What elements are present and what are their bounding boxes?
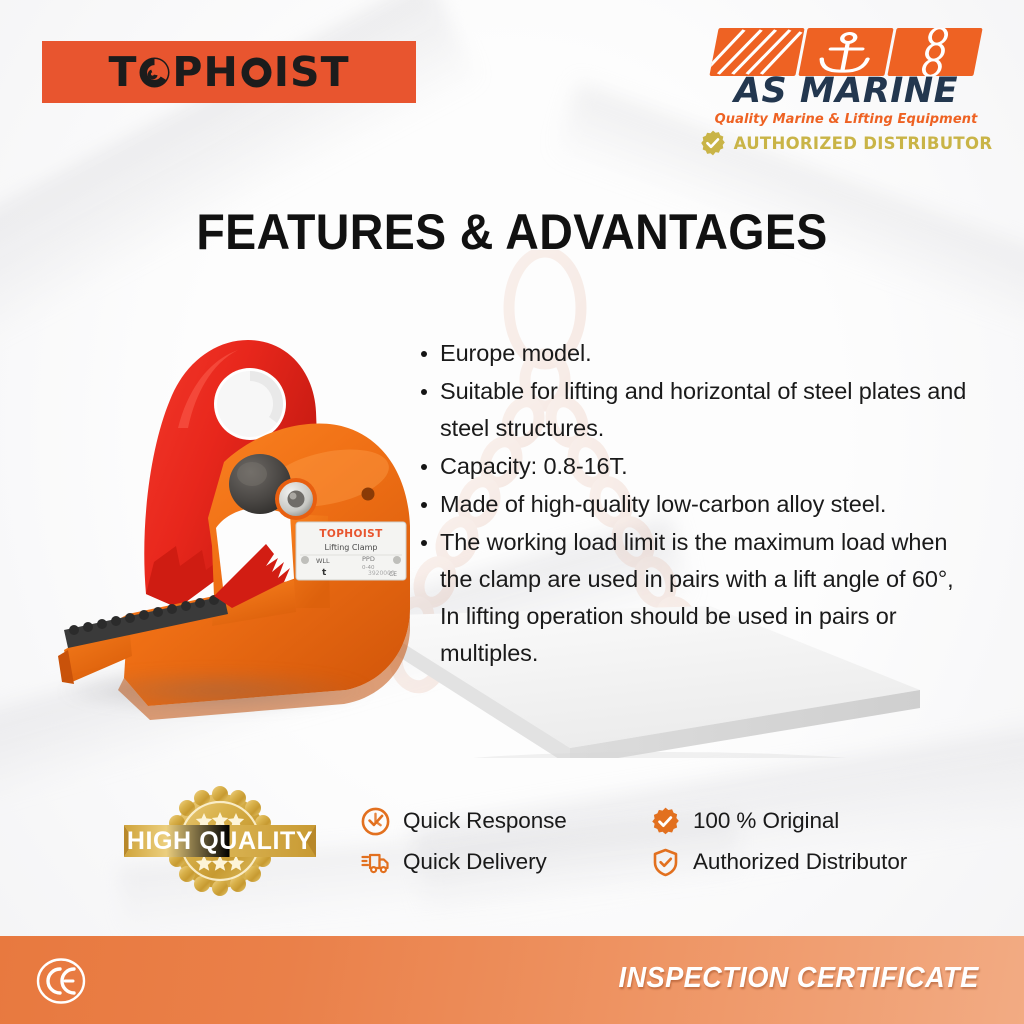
feature-bullet: The working load limit is the maximum lo… [440,524,978,672]
feature-badges-left: Quick Response Quick Delivery [360,806,567,877]
shield-check-icon [650,847,680,877]
feature-bullet: Europe model. [440,335,978,372]
infographic-page: TPHIST [0,0,1024,1024]
lifting-clamp-illustration: TOPHOIST Lifting Clamp WLL PPD 0-40 t 39… [28,278,428,728]
authorized-distributor-label: AUTHORIZED DISTRIBUTOR [734,134,993,153]
tophoist-text-part-1: T [108,52,137,93]
inspection-certificate-title: INSPECTION CERTIFICATE [618,962,978,995]
product-image-lifting-clamp: TOPHOIST Lifting Clamp WLL PPD 0-40 t 39… [28,278,428,728]
feature-bullet: Capacity: 0.8-16T. [440,448,978,485]
clamp-small-hole [362,488,375,501]
seal-label: HIGH QUALITY [127,827,313,855]
product-label-plate: TOPHOIST Lifting Clamp WLL PPD 0-40 t 39… [296,522,406,580]
tophoist-text-part-3: IST [274,52,350,93]
ce-mark-icon [36,958,86,1004]
feature-bullet: Suitable for lifting and horizontal of s… [440,373,978,447]
feature-original: 100 % Original [650,806,907,836]
tophoist-hook-o-icon [138,56,171,89]
feature-bullet: Made of high-quality low-carbon alloy st… [440,486,978,523]
feature-badges-right: 100 % Original Authorized Distributor [650,806,907,877]
feature-label: Quick Delivery [403,851,547,874]
svg-text:PPD: PPD [362,555,375,563]
verified-badge-icon [650,806,680,836]
feature-label: 100 % Original [693,810,839,833]
as-marine-emblem [709,28,982,76]
feature-label: Quick Response [403,810,567,833]
feature-authorized-distributor: Authorized Distributor [650,847,907,877]
features-list: Europe model. Suitable for lifting and h… [412,335,978,673]
clamp-pivot-bolt [275,478,317,520]
feature-quick-delivery: Quick Delivery [360,847,567,877]
tophoist-logo[interactable]: TPHIST [42,41,416,103]
authorized-distributor-badge: AUTHORIZED DISTRIBUTOR [696,130,996,156]
svg-text:Lifting Clamp: Lifting Clamp [325,543,378,552]
feature-quick-response: Quick Response [360,806,567,836]
page-title: FEATURES & ADVANTAGES [36,203,988,261]
tophoist-wordmark: TPHIST [108,52,349,93]
svg-text:t: t [322,568,327,578]
footer-bar: INSPECTION CERTIFICATE [0,936,1024,1024]
as-marine-tagline: Quality Marine & Lifting Equipment [696,112,996,127]
delivery-truck-icon [360,847,390,877]
tophoist-hook-o-icon-2 [240,56,273,89]
emblem-block-anchor-icon [798,28,893,76]
tophoist-text-part-2: PH [172,52,238,93]
svg-text:TOPHOIST: TOPHOIST [319,528,383,540]
emblem-block-chain-icon [887,28,982,76]
product-shadow [56,670,376,712]
header: TPHIST [0,0,1024,160]
emblem-block-rope-icon [709,28,804,76]
high-quality-seal: HIGH QUALITY [122,783,318,899]
as-marine-name: AS MARINE [696,74,996,109]
as-marine-logo[interactable]: AS MARINE Quality Marine & Lifting Equip… [696,28,996,156]
clock-check-icon [360,806,390,836]
authorized-check-badge-icon [700,130,726,156]
svg-text:WLL: WLL [316,557,330,565]
svg-text:CE: CE [389,571,397,578]
feature-label: Authorized Distributor [693,851,907,874]
